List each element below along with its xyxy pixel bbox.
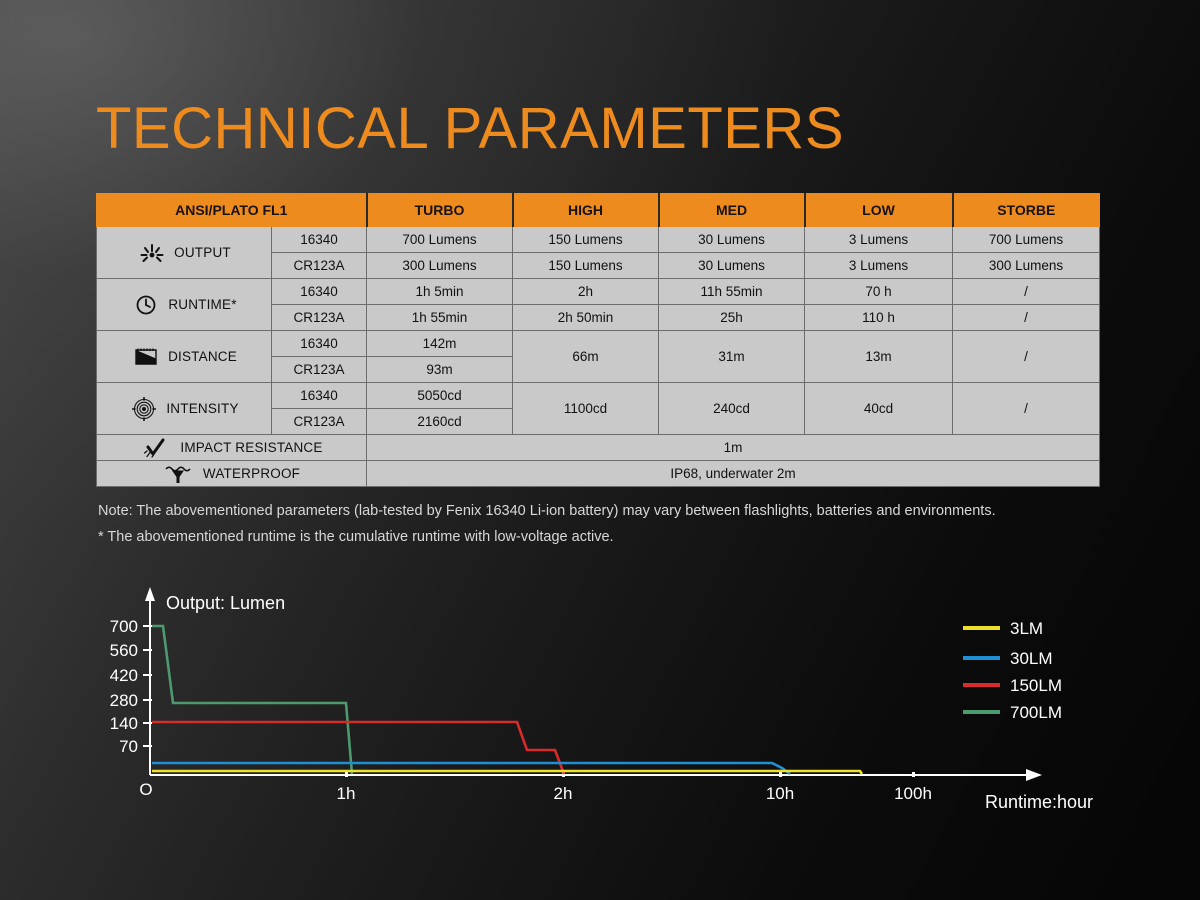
battery-16340: 16340: [272, 331, 367, 357]
legend-item-150lm: 150LM: [963, 676, 1062, 695]
cell-output-low-16340: 3 Lumens: [805, 227, 953, 253]
row-label-text: OUTPUT: [174, 245, 231, 260]
impact-icon: [142, 437, 168, 459]
cell-output-high-16340: 150 Lumens: [513, 227, 659, 253]
cell-intensity-storbe: /: [953, 383, 1100, 435]
chart-legend: 3LM 30LM 150LM 700LM: [963, 619, 1062, 722]
row-label-text: DISTANCE: [168, 349, 237, 364]
cell-waterproof-value: IP68, underwater 2m: [367, 461, 1100, 487]
row-label-waterproof: WATERPROOF: [97, 461, 367, 487]
series-line-3lm: [152, 771, 862, 774]
header-turbo: TURBO: [367, 194, 513, 227]
series-line-150lm: [152, 722, 564, 774]
note-line-2: * The abovementioned runtime is the cumu…: [98, 529, 614, 545]
cell-runtime-high-16340: 2h: [513, 279, 659, 305]
cell-output-high-cr123a: 150 Lumens: [513, 253, 659, 279]
cell-intensity-turbo-cr123a: 2160cd: [367, 409, 513, 435]
y-tick-280: 280: [110, 691, 138, 710]
page-title: TECHNICAL PARAMETERS: [96, 95, 844, 162]
beam-icon: [133, 346, 159, 368]
note-line-1: Note: The abovementioned parameters (lab…: [98, 503, 996, 519]
battery-16340: 16340: [272, 227, 367, 253]
row-label-text: RUNTIME*: [168, 297, 236, 312]
cell-distance-high: 66m: [513, 331, 659, 383]
row-label-text: WATERPROOF: [203, 466, 300, 481]
slide-root: TECHNICAL PARAMETERS ANSI/PLATO FL1 TURB…: [0, 0, 1200, 900]
sunburst-icon: [139, 242, 165, 264]
table-row: RUNTIME* 16340 1h 5min 2h 11h 55min 70 h…: [97, 279, 1100, 305]
legend-item-30lm: 30LM: [963, 649, 1053, 668]
header-storbe: STORBE: [953, 194, 1100, 227]
y-tick-70: 70: [119, 737, 138, 756]
table-row: WATERPROOF IP68, underwater 2m: [97, 461, 1100, 487]
chart-x-axis-title: Runtime:hour: [985, 792, 1093, 812]
cell-output-turbo-16340: 700 Lumens: [367, 227, 513, 253]
battery-16340: 16340: [272, 383, 367, 409]
cell-intensity-med: 240cd: [659, 383, 805, 435]
battery-cr123a: CR123A: [272, 357, 367, 383]
chart-y-axis-title: Output: Lumen: [166, 593, 285, 613]
legend-item-700lm: 700LM: [963, 703, 1062, 722]
cell-output-low-cr123a: 3 Lumens: [805, 253, 953, 279]
header-high: HIGH: [513, 194, 659, 227]
table-row: IMPACT RESISTANCE 1m: [97, 435, 1100, 461]
clock-icon: [133, 294, 159, 316]
battery-cr123a: CR123A: [272, 305, 367, 331]
x-tick-100h: 100h: [894, 784, 932, 803]
series-line-30lm: [152, 763, 790, 774]
x-axis-arrow: [1026, 769, 1042, 781]
cell-output-turbo-cr123a: 300 Lumens: [367, 253, 513, 279]
header-med: MED: [659, 194, 805, 227]
row-label-distance: DISTANCE: [97, 331, 272, 383]
origin-label: O: [139, 780, 152, 799]
waterproof-icon: [165, 463, 191, 485]
legend-label-150lm: 150LM: [1010, 676, 1062, 695]
legend-item-3lm: 3LM: [963, 619, 1043, 638]
series-line-700lm: [152, 626, 352, 774]
battery-cr123a: CR123A: [272, 253, 367, 279]
header-ansi: ANSI/PLATO FL1: [97, 194, 367, 227]
runtime-chart: 700 560 420 280 140 70 O Output: Lumen 1…: [0, 575, 1200, 835]
legend-label-700lm: 700LM: [1010, 703, 1062, 722]
specification-table: ANSI/PLATO FL1 TURBO HIGH MED LOW STORBE: [96, 193, 1100, 487]
cell-distance-med: 31m: [659, 331, 805, 383]
row-label-impact-resistance: IMPACT RESISTANCE: [97, 435, 367, 461]
cell-runtime-turbo-cr123a: 1h 55min: [367, 305, 513, 331]
cell-output-storbe-cr123a: 300 Lumens: [953, 253, 1100, 279]
row-label-intensity: INTENSITY: [97, 383, 272, 435]
cell-runtime-storbe-cr123a: /: [953, 305, 1100, 331]
legend-label-3lm: 3LM: [1010, 619, 1043, 638]
table-row: OUTPUT 16340 700 Lumens 150 Lumens 30 Lu…: [97, 227, 1100, 253]
x-tick-10h: 10h: [766, 784, 794, 803]
target-icon: [131, 398, 157, 420]
cell-distance-storbe: /: [953, 331, 1100, 383]
row-label-text: IMPACT RESISTANCE: [180, 440, 322, 455]
legend-label-30lm: 30LM: [1010, 649, 1053, 668]
y-tick-420: 420: [110, 666, 138, 685]
table-row: DISTANCE 16340 142m 66m 31m 13m /: [97, 331, 1100, 357]
y-axis-arrow: [145, 587, 155, 601]
cell-output-storbe-16340: 700 Lumens: [953, 227, 1100, 253]
y-tick-140: 140: [110, 714, 138, 733]
row-label-text: INTENSITY: [166, 401, 238, 416]
cell-intensity-turbo-16340: 5050cd: [367, 383, 513, 409]
cell-impact-resistance-value: 1m: [367, 435, 1100, 461]
cell-output-med-cr123a: 30 Lumens: [659, 253, 805, 279]
cell-runtime-low-16340: 70 h: [805, 279, 953, 305]
cell-runtime-storbe-16340: /: [953, 279, 1100, 305]
cell-runtime-med-cr123a: 25h: [659, 305, 805, 331]
table-header-row: ANSI/PLATO FL1 TURBO HIGH MED LOW STORBE: [97, 194, 1100, 227]
cell-intensity-high: 1100cd: [513, 383, 659, 435]
cell-distance-low: 13m: [805, 331, 953, 383]
cell-distance-turbo-16340: 142m: [367, 331, 513, 357]
row-label-runtime: RUNTIME*: [97, 279, 272, 331]
header-low: LOW: [805, 194, 953, 227]
cell-output-med-16340: 30 Lumens: [659, 227, 805, 253]
cell-runtime-med-16340: 11h 55min: [659, 279, 805, 305]
table-row: INTENSITY 16340 5050cd 1100cd 240cd 40cd…: [97, 383, 1100, 409]
battery-cr123a: CR123A: [272, 409, 367, 435]
cell-intensity-low: 40cd: [805, 383, 953, 435]
cell-runtime-low-cr123a: 110 h: [805, 305, 953, 331]
cell-runtime-high-cr123a: 2h 50min: [513, 305, 659, 331]
x-tick-1h: 1h: [337, 784, 356, 803]
battery-16340: 16340: [272, 279, 367, 305]
row-label-output: OUTPUT: [97, 227, 272, 279]
cell-runtime-turbo-16340: 1h 5min: [367, 279, 513, 305]
y-tick-700: 700: [110, 617, 138, 636]
cell-distance-turbo-cr123a: 93m: [367, 357, 513, 383]
x-tick-2h: 2h: [554, 784, 573, 803]
y-tick-560: 560: [110, 641, 138, 660]
